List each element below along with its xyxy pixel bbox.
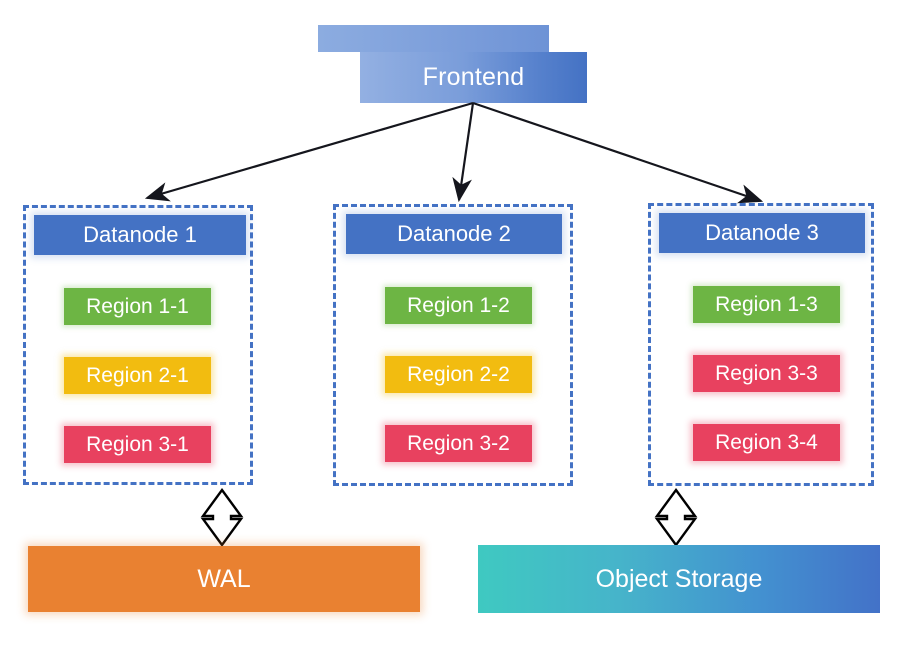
datanode-3-label: Datanode 3: [705, 222, 819, 244]
object-storage-label: Object Storage: [596, 567, 763, 592]
arrow-frontend-to-datanode-3: [473, 103, 761, 201]
region-label: Region 1-1: [86, 296, 189, 317]
region-label: Region 3-3: [715, 363, 818, 384]
datanode-2-container[interactable]: Datanode 2 Region 1-2 Region 2-2 Region …: [333, 204, 573, 486]
arrow-frontend-to-datanode-2: [459, 103, 473, 200]
wal-node[interactable]: WAL: [28, 546, 420, 612]
region-2-2[interactable]: Region 2-2: [385, 356, 532, 393]
region-label: Region 2-2: [407, 364, 510, 385]
region-1-3[interactable]: Region 1-3: [693, 286, 840, 323]
double-arrow-datanode1-wal: [203, 490, 241, 545]
region-label: Region 2-1: [86, 365, 189, 386]
region-3-2[interactable]: Region 3-2: [385, 425, 532, 462]
frontend-shadow-box: [318, 25, 549, 52]
wal-label: WAL: [197, 567, 250, 592]
datanode-1-label: Datanode 1: [83, 224, 197, 246]
datanode-2-label: Datanode 2: [397, 223, 511, 245]
region-label: Region 3-4: [715, 432, 818, 453]
arrow-frontend-to-datanode-1: [147, 103, 473, 198]
datanode-1-container[interactable]: Datanode 1 Region 1-1 Region 2-1 Region …: [23, 205, 253, 485]
double-arrow-datanode3-object-storage: [657, 490, 695, 545]
region-1-1[interactable]: Region 1-1: [64, 288, 211, 325]
region-3-1[interactable]: Region 3-1: [64, 426, 211, 463]
diagram-canvas: Frontend Datanode 1 Region 1-1 Region 2-…: [0, 0, 906, 646]
region-label: Region 1-3: [715, 294, 818, 315]
region-2-1[interactable]: Region 2-1: [64, 357, 211, 394]
region-label: Region 1-2: [407, 295, 510, 316]
object-storage-node[interactable]: Object Storage: [478, 545, 880, 613]
datanode-3-header[interactable]: Datanode 3: [659, 213, 865, 253]
region-3-3[interactable]: Region 3-3: [693, 355, 840, 392]
datanode-1-header[interactable]: Datanode 1: [34, 215, 246, 255]
region-3-4[interactable]: Region 3-4: [693, 424, 840, 461]
frontend-node[interactable]: Frontend: [360, 52, 587, 103]
region-label: Region 3-1: [86, 434, 189, 455]
region-1-2[interactable]: Region 1-2: [385, 287, 532, 324]
region-label: Region 3-2: [407, 433, 510, 454]
datanode-3-container[interactable]: Datanode 3 Region 1-3 Region 3-3 Region …: [648, 203, 874, 486]
datanode-2-header[interactable]: Datanode 2: [346, 214, 562, 254]
frontend-label: Frontend: [423, 65, 525, 90]
